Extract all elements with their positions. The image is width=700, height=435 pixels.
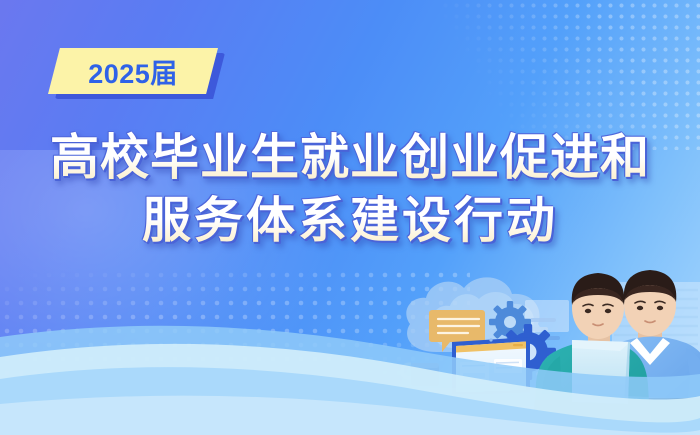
- title-line-2: 服务体系建设行动: [0, 190, 700, 253]
- banner-title: 高校毕业生就业创业促进和 服务体系建设行动: [0, 127, 700, 253]
- title-line-1: 高校毕业生就业创业促进和: [0, 127, 700, 190]
- promo-banner: 2025届 高校毕业生就业创业促进和 服务体系建设行动: [0, 0, 700, 435]
- year-badge-label: 2025届: [48, 48, 218, 94]
- year-badge: 2025届: [48, 48, 218, 96]
